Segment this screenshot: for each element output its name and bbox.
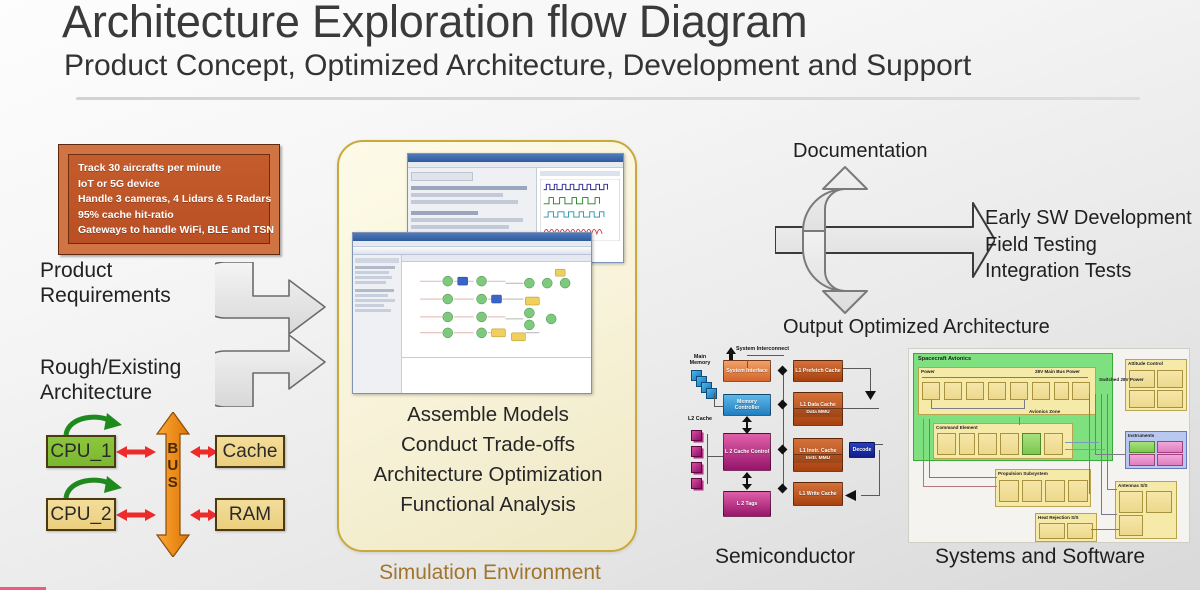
flow-arrow-architecture-to-sim-icon [215, 333, 331, 407]
bus-letter: S [155, 474, 191, 491]
mc-l2-double-arrow-icon [741, 416, 753, 434]
cpu1-bus-link-icon [116, 442, 156, 462]
block-l2-cache-control[interactable]: L 2 Cache Control [723, 433, 771, 471]
simulation-activities: Assemble Models Conduct Trade-offs Archi… [345, 400, 631, 520]
power-label: Power [921, 369, 935, 374]
rough-architecture-label: Rough/Existing Architecture [40, 355, 181, 405]
instrument-unit [1157, 454, 1183, 466]
downstream-output-item: Field Testing [985, 232, 1192, 259]
wire [843, 368, 871, 369]
wire [714, 393, 715, 407]
wire [1107, 489, 1117, 490]
power-unit [922, 382, 940, 400]
bus-letter: B [155, 440, 191, 457]
cpu2-loop-arrow-icon [60, 471, 130, 501]
requirement-item: 95% cache hit-ratio [78, 208, 269, 224]
wire [1101, 514, 1117, 515]
wire [923, 486, 997, 487]
antenna-unit [1119, 515, 1143, 536]
main-memory-chip [706, 388, 717, 399]
wire [1065, 449, 1105, 450]
three-way-split-arrow-icon [775, 165, 995, 315]
product-requirements-label-line1: Product [40, 258, 171, 283]
heat-rejection-label: Heat Rejection S/S [1038, 515, 1079, 520]
slide-canvas: Architecture Exploration flow Diagram Pr… [0, 0, 1200, 590]
power-unit [1072, 382, 1090, 400]
power-unit [944, 382, 962, 400]
command-unit [1000, 433, 1019, 455]
attitude-unit [1157, 370, 1183, 388]
wire [707, 456, 723, 457]
bus-ram-link-icon [190, 505, 218, 525]
bus-junction [778, 484, 788, 494]
wire [747, 355, 784, 356]
avionics-zone-label: Avionics Zone [1029, 409, 1060, 414]
power-unit [1010, 382, 1028, 400]
system-interconnect-label: System Interconnect [736, 346, 826, 352]
power-unit [1032, 382, 1050, 400]
model-graph [402, 262, 591, 352]
requirements-box: Track 30 aircrafts per minute IoT or 5G … [68, 154, 270, 244]
block-l1-prefetch-cache[interactable]: L1 Prefetch Cache [793, 360, 843, 382]
simulation-activity: Architecture Optimization [345, 460, 631, 490]
window-titlebar [353, 233, 591, 241]
block-decode[interactable]: Decode [849, 442, 875, 458]
block-memory-controller[interactable]: Memory Controller [723, 394, 771, 416]
wire [1095, 454, 1125, 455]
main-bus-power-label: 28V Main Bus Power [1035, 369, 1080, 374]
power-unit [966, 382, 984, 400]
requirement-item: IoT or 5G device [78, 177, 269, 193]
command-unit [1022, 433, 1041, 455]
rough-architecture-label-line1: Rough/Existing [40, 355, 181, 380]
propulsion-unit [1022, 480, 1042, 502]
window-toolbar [353, 247, 591, 255]
downstream-outputs-list: Early SW Development Field Testing Integ… [985, 205, 1192, 285]
wire [929, 477, 997, 478]
wire [843, 408, 879, 409]
bus-junction [778, 366, 788, 376]
prefetch-down-arrow-icon [865, 391, 876, 400]
documentation-label: Documentation [793, 140, 928, 163]
requirement-item: Handle 3 cameras, 4 Lidars & 5 Radars [78, 192, 269, 208]
wire [747, 360, 748, 368]
command-unit [937, 433, 956, 455]
page-title: Architecture Exploration flow Diagram [62, 0, 1162, 48]
block-cpu1[interactable]: CPU_1 [46, 435, 116, 468]
simulation-screenshot-bottom[interactable] [352, 232, 592, 394]
command-element-label: Command Element [936, 425, 978, 430]
antennas-label: Antennas S/S [1118, 483, 1148, 488]
wire [875, 444, 883, 445]
block-ram[interactable]: RAM [215, 498, 285, 531]
bus-junction [778, 400, 788, 410]
block-cpu2[interactable]: CPU_2 [46, 498, 116, 531]
output-optimized-architecture-label: Output Optimized Architecture [783, 316, 1050, 339]
wire [1107, 394, 1108, 489]
l2-cache-label: L2 Cache [683, 416, 717, 422]
attitude-unit [1157, 390, 1183, 408]
simulation-activity: Conduct Trade-offs [345, 430, 631, 460]
interconnect-bus [783, 368, 784, 488]
systems-and-software-caption: Systems and Software [935, 545, 1145, 569]
requirement-item: Track 30 aircrafts per minute [78, 161, 269, 177]
propulsion-unit [1068, 480, 1088, 502]
block-l1-write-cache[interactable]: L1 Write Cache [793, 482, 843, 506]
l2-cache-chip [691, 446, 702, 457]
wire [931, 408, 1025, 409]
requirements-list: Track 30 aircrafts per minute IoT or 5G … [78, 161, 269, 239]
simulation-activity: Functional Analysis [345, 490, 631, 520]
wire [1091, 529, 1119, 530]
wire [879, 450, 880, 496]
bus-label: B U S [155, 440, 191, 491]
block-l2-tags[interactable]: L 2 Tags [723, 491, 771, 517]
wire [1065, 442, 1099, 443]
l2-tags-double-arrow-icon [741, 472, 753, 490]
attitude-unit [1129, 390, 1155, 408]
antenna-unit [1119, 491, 1143, 513]
heat-unit [1067, 523, 1093, 539]
power-unit [1054, 382, 1069, 400]
wire [707, 434, 708, 484]
block-l1-data-cache[interactable]: L1 Data Cache Data MMU [793, 392, 843, 426]
l2-cache-chip [691, 430, 702, 441]
instrument-unit [1129, 441, 1155, 453]
cpu2-bus-link-icon [116, 505, 156, 525]
l2-cache-chip [691, 462, 702, 473]
window-titlebar [408, 154, 623, 162]
switched-power-label: Switched 28V Power [1099, 377, 1144, 382]
semiconductor-block-diagram: System Interconnect Main Memory L2 Cache… [683, 346, 883, 541]
power-bus-line [922, 377, 1088, 378]
page-subtitle: Product Concept, Optimized Architecture,… [64, 49, 1184, 83]
wire [1019, 417, 1020, 425]
command-unit [1044, 433, 1063, 455]
instrument-unit [1129, 454, 1155, 466]
block-l1-instr-cache[interactable]: L1 Instr. Cache Instr. MMU [793, 438, 843, 472]
propulsion-unit [999, 480, 1019, 502]
propulsion-unit [1045, 480, 1065, 502]
spacecraft-avionics-title: Spacecraft Avionics [918, 356, 971, 362]
flow-arrow-requirements-to-sim-icon [215, 262, 331, 336]
rough-architecture-label-line2: Architecture [40, 380, 181, 405]
bus-cache-link-icon [190, 442, 218, 462]
wire [923, 419, 924, 487]
product-requirements-label-line2: Requirements [40, 283, 171, 308]
wire [1089, 394, 1090, 494]
attitude-control-label: Attitude Control [1128, 361, 1163, 366]
write-cache-left-arrow-icon [845, 490, 856, 501]
downstream-output-item: Integration Tests [985, 258, 1192, 285]
block-cache[interactable]: Cache [215, 435, 285, 468]
instruments-label: Instruments [1128, 433, 1154, 438]
wire [931, 400, 932, 408]
simulation-environment-caption: Simulation Environment [345, 561, 635, 585]
header-divider [76, 97, 1140, 100]
l2-cache-chip [691, 478, 702, 489]
wire [861, 495, 880, 496]
main-memory-label: Main Memory [683, 354, 717, 366]
downstream-output-item: Early SW Development [985, 205, 1192, 232]
bus-junction [778, 445, 788, 455]
command-unit [978, 433, 997, 455]
propulsion-label: Propulsion Subsystem [998, 471, 1048, 476]
heat-unit [1039, 523, 1065, 539]
antenna-unit [1146, 491, 1172, 513]
wire [1024, 400, 1025, 408]
spacecraft-avionics-diagram: Spacecraft Avionics Power 28V Main Bus P… [908, 348, 1190, 543]
cpu1-loop-arrow-icon [60, 408, 130, 438]
bus-letter: U [155, 457, 191, 474]
simulation-activity: Assemble Models [345, 400, 631, 430]
power-unit [988, 382, 1006, 400]
wire [1095, 394, 1096, 454]
product-requirements-label: Product Requirements [40, 258, 171, 308]
command-unit [959, 433, 975, 455]
wire [929, 419, 930, 477]
semiconductor-caption: Semiconductor [715, 545, 855, 569]
requirement-item: Gateways to handle WiFi, BLE and TSN [78, 223, 269, 239]
instrument-unit [1157, 441, 1183, 453]
